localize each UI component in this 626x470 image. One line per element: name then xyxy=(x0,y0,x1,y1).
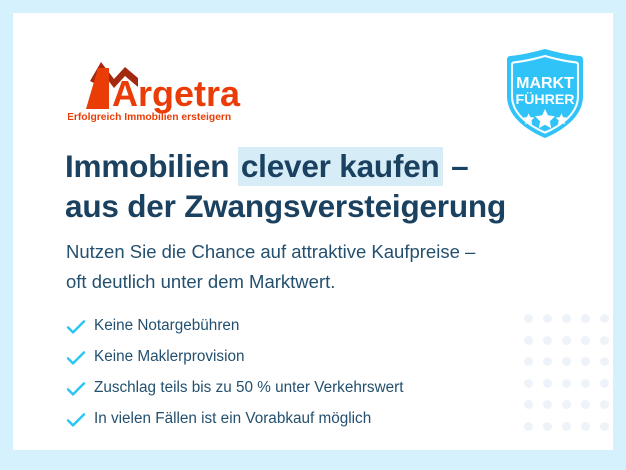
decorative-dot-grid xyxy=(524,314,613,442)
argetra-logo[interactable]: Argetra Erfolgreich Immobilien ersteiger… xyxy=(68,54,258,122)
markt-fuehrer-badge: MARKT FÜHRER xyxy=(502,47,588,141)
list-item-label: Keine Notargebühren xyxy=(94,318,239,334)
decorative-dot xyxy=(581,400,590,409)
decorative-dot xyxy=(543,314,552,323)
list-item-label: In vielen Fällen ist ein Vorabkauf mögli… xyxy=(94,411,371,427)
decorative-dot xyxy=(600,357,609,366)
decorative-dot xyxy=(543,357,552,366)
promo-card: Argetra Erfolgreich Immobilien ersteiger… xyxy=(13,13,613,450)
decorative-dot xyxy=(543,336,552,345)
decorative-dot xyxy=(600,379,609,388)
decorative-dot xyxy=(581,357,590,366)
subtitle-line1: Nutzen Sie die Chance auf attraktive Kau… xyxy=(66,237,596,267)
decorative-dot xyxy=(562,357,571,366)
subtitle-line2: oft deutlich unter dem Marktwert. xyxy=(66,267,596,297)
logo-a-slash xyxy=(86,68,109,109)
page-frame: Argetra Erfolgreich Immobilien ersteiger… xyxy=(0,0,626,470)
page-subtitle: Nutzen Sie die Chance auf attraktive Kau… xyxy=(66,237,596,297)
list-item: In vielen Fällen ist ein Vorabkauf mögli… xyxy=(66,404,536,435)
decorative-dot xyxy=(543,379,552,388)
decorative-dot xyxy=(562,314,571,323)
list-item: Zuschlag teils bis zu 50 % unter Verkehr… xyxy=(66,373,536,404)
decorative-dot xyxy=(600,400,609,409)
list-item: Keine Notargebühren xyxy=(66,311,536,342)
decorative-dot xyxy=(600,336,609,345)
list-item: Keine Maklerprovision xyxy=(66,342,536,373)
decorative-dot xyxy=(562,379,571,388)
benefits-list: Keine NotargebührenKeine Maklerprovision… xyxy=(66,311,536,435)
headline-line1: Immobilien clever kaufen – xyxy=(65,147,468,186)
decorative-dot xyxy=(562,400,571,409)
check-icon xyxy=(66,412,94,428)
logo-wordmark: Argetra xyxy=(112,73,241,114)
headline-text-before: Immobilien xyxy=(65,148,238,184)
headline-line2: aus der Zwangsversteigerung xyxy=(65,186,585,226)
decorative-dot xyxy=(562,422,571,431)
badge-line2: FÜHRER xyxy=(515,91,574,108)
decorative-dot xyxy=(581,379,590,388)
badge-line1: MARKT xyxy=(516,75,574,92)
page-title: Immobilien clever kaufen – aus der Zwang… xyxy=(65,146,585,226)
decorative-dot xyxy=(600,422,609,431)
decorative-dot xyxy=(543,400,552,409)
decorative-dot xyxy=(562,336,571,345)
decorative-dot xyxy=(600,314,609,323)
check-icon xyxy=(66,350,94,366)
decorative-dot xyxy=(581,422,590,431)
list-item-label: Zuschlag teils bis zu 50 % unter Verkehr… xyxy=(94,380,403,396)
headline-text-after: – xyxy=(443,148,469,184)
decorative-dot xyxy=(581,336,590,345)
logo-tagline: Erfolgreich Immobilien ersteigern xyxy=(68,112,231,122)
decorative-dot xyxy=(581,314,590,323)
headline-highlight: clever kaufen xyxy=(238,147,443,186)
list-item-label: Keine Maklerprovision xyxy=(94,349,245,365)
check-icon xyxy=(66,381,94,397)
check-icon xyxy=(66,319,94,335)
decorative-dot xyxy=(543,422,552,431)
